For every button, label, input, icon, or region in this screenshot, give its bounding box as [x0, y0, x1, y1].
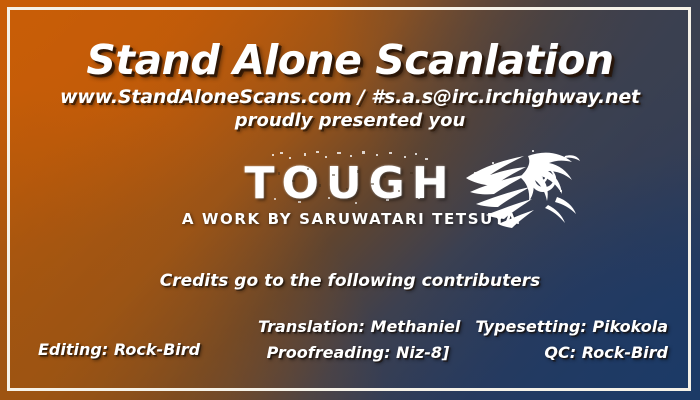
credits-page: Stand Alone Scanlation www.StandAloneSca…: [0, 0, 700, 400]
manga-author-credit: A WORK BY SARUWATARI TETSUYA: [0, 210, 700, 228]
presented-by-line: proudly presented you: [0, 110, 700, 131]
site-title: Stand Alone Scanlation: [0, 36, 700, 84]
credits-right-column: Typesetting: Pikokola QC: Rock-Bird: [475, 314, 668, 366]
manga-logo-block: TOUGH A WORK BY SARUWATARI TETSUYA: [0, 150, 700, 240]
credits-heading: Credits go to the following contributers: [0, 271, 700, 291]
credit-proofreading: Proofreading: Niz-8]: [258, 340, 458, 366]
credit-typesetting: Typesetting: Pikokola: [475, 314, 668, 340]
manga-title: TOUGH: [0, 158, 700, 209]
credit-translation: Translation: Methaniel: [258, 314, 458, 340]
credits-middle-column: Translation: Methaniel Proofreading: Niz…: [258, 314, 458, 366]
site-url-line: www.StandAloneScans.com / #s.a.s@irc.irc…: [0, 86, 700, 108]
credit-qc: QC: Rock-Bird: [475, 340, 668, 366]
page-content: Stand Alone Scanlation www.StandAloneSca…: [0, 0, 700, 400]
credit-editing: Editing: Rock-Bird: [38, 340, 200, 359]
